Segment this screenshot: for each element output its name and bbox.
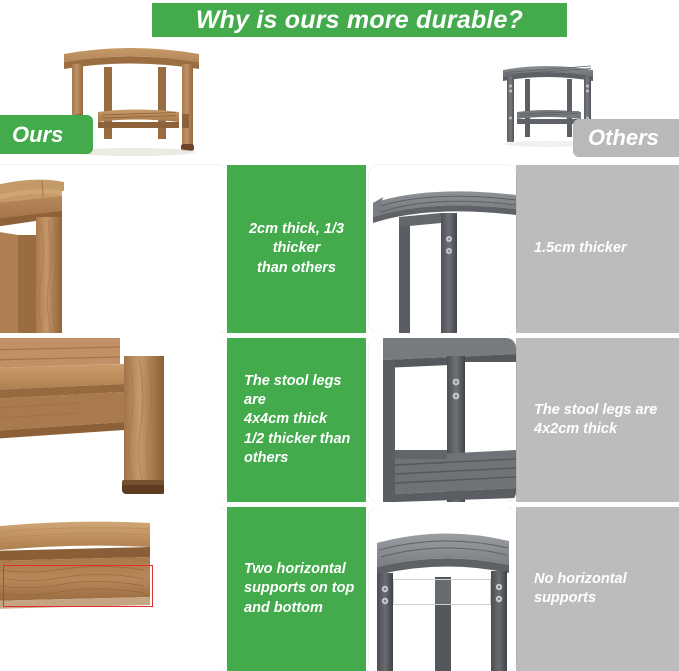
row2-others-text: The stool legs are 4x2cm thick xyxy=(534,401,657,439)
comparison-infographic: Why is ours more durable? Ours Others xyxy=(0,0,679,671)
row1-ours-text-panel: 2cm thick, 1/3 thicker than others xyxy=(227,165,366,333)
page-title-text: Why is ours more durable? xyxy=(196,6,523,35)
row2-ours-text: The stool legs are 4x4cm thick 1/2 thick… xyxy=(244,372,366,468)
row3-others-text: No horizontal supports xyxy=(534,570,627,608)
row-separator-1 xyxy=(0,333,679,338)
row2-ours-side: The stool legs are 4x4cm thick 1/2 thick… xyxy=(0,338,366,502)
row2-ours-text-panel: The stool legs are 4x4cm thick 1/2 thick… xyxy=(227,338,366,502)
comparison-row-horizontal-supports: Two horizontal supports on top and botto… xyxy=(0,507,679,671)
row3-ours-text: Two horizontal supports on top and botto… xyxy=(244,560,354,617)
row1-others-text-panel: 1.5cm thicker xyxy=(516,165,679,333)
row3-others-photo xyxy=(369,507,516,671)
row3-ours-photo xyxy=(0,507,227,671)
row1-others-photo xyxy=(369,165,516,333)
row3-others-side: No horizontal supports xyxy=(366,507,679,671)
badge-others: Others xyxy=(573,119,679,157)
badge-ours: Ours xyxy=(0,115,93,154)
row-separator-2 xyxy=(0,502,679,507)
row2-ours-photo xyxy=(0,338,227,502)
comparison-row-thickness: 2cm thick, 1/3 thicker than others xyxy=(0,165,679,333)
row2-others-photo xyxy=(369,338,516,502)
row1-others-text: 1.5cm thicker xyxy=(534,239,645,258)
row2-others-text-panel: The stool legs are 4x2cm thick xyxy=(516,338,679,502)
row3-ours-text-panel: Two horizontal supports on top and botto… xyxy=(227,507,366,671)
badge-ours-label: Ours xyxy=(12,122,63,148)
comparison-row-leg-thickness: The stool legs are 4x4cm thick 1/2 thick… xyxy=(0,338,679,502)
row3-ours-side: Two horizontal supports on top and botto… xyxy=(0,507,366,671)
page-title: Why is ours more durable? xyxy=(152,3,567,37)
badge-others-label: Others xyxy=(588,125,659,151)
row1-ours-photo xyxy=(0,165,227,333)
row2-others-side: The stool legs are 4x2cm thick xyxy=(366,338,679,502)
row1-ours-text: 2cm thick, 1/3 thicker than others xyxy=(244,220,366,277)
row1-others-side: 1.5cm thicker xyxy=(366,165,679,333)
row1-ours-side: 2cm thick, 1/3 thicker than others xyxy=(0,165,366,333)
row3-others-text-panel: No horizontal supports xyxy=(516,507,679,671)
